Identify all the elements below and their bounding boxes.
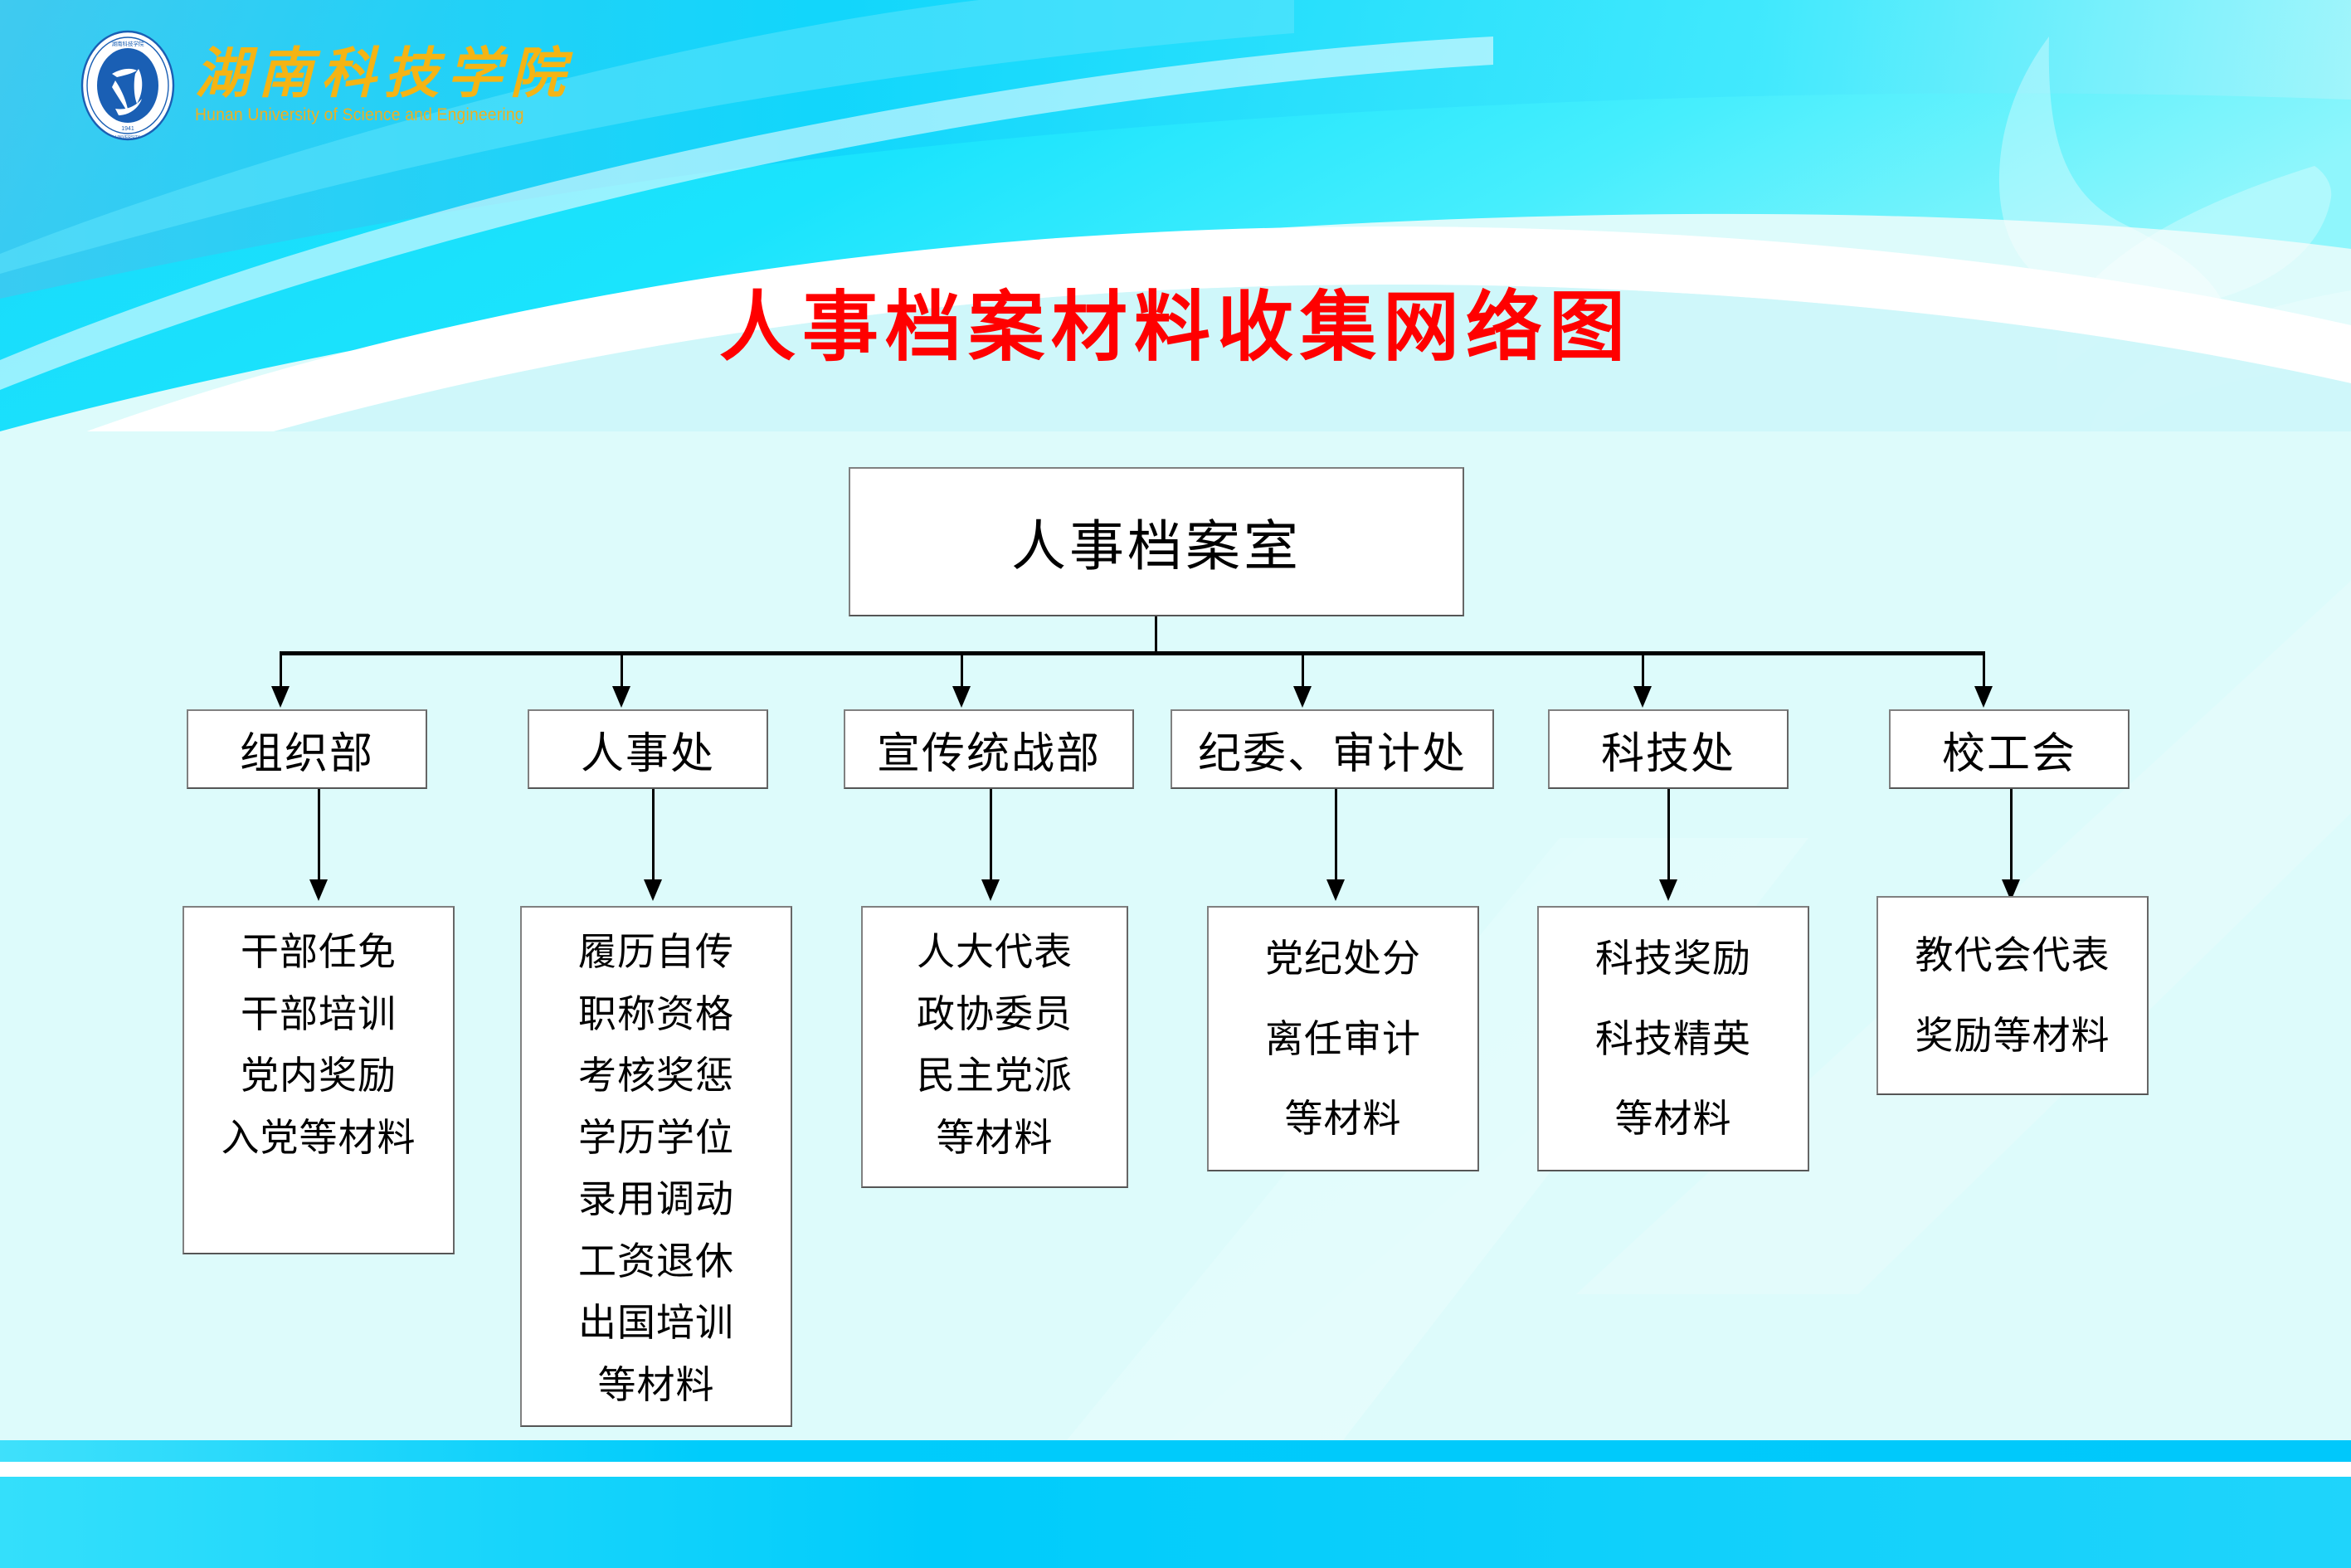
arrowhead-bus-to-dept-2 (612, 686, 630, 708)
node-department-6: 校工会 (1889, 709, 2130, 789)
svg-text:UNIVERSITY: UNIVERSITY (115, 135, 141, 140)
connector-root-trunk (1155, 616, 1157, 653)
connector-horizontal-bus (280, 651, 1985, 655)
material-item: 职称资格 (578, 983, 734, 1045)
arrowhead-bus-to-dept-6 (1974, 686, 1993, 708)
node-department-5: 科技处 (1548, 709, 1789, 789)
arrowhead-bus-to-dept-3 (952, 686, 971, 708)
university-logo: 1941 湖南科技学院 UNIVERSITY 湖南科技学院 Hunan Univ… (79, 32, 573, 139)
arrowhead-bus-to-dept-1 (271, 686, 290, 708)
material-item: 出国培训 (578, 1292, 734, 1354)
material-item: 等材料 (598, 1354, 715, 1416)
node-department-5-label: 科技处 (1601, 718, 1735, 781)
connector-bus-to-dept-6 (1983, 655, 1985, 687)
university-name-cn: 湖南科技学院 (195, 46, 573, 100)
node-department-1-label: 组织部 (240, 718, 374, 781)
node-materials-1: 干部任免 干部培训 党内奖励 入党等材料 (183, 906, 455, 1254)
node-materials-6: 教代会代表 奖励等材料 (1876, 896, 2149, 1095)
arrowhead-bus-to-dept-5 (1633, 686, 1652, 708)
material-item: 人大代表 (917, 921, 1073, 983)
node-root-label: 人事档案室 (1011, 502, 1302, 582)
node-department-6-label: 校工会 (1942, 718, 2076, 781)
material-item: 政协委员 (917, 983, 1073, 1045)
material-item: 录用调动 (578, 1168, 734, 1230)
material-item: 干部培训 (241, 983, 397, 1045)
connector-dept-3-to-materials (990, 789, 992, 880)
material-item: 考核奖惩 (578, 1045, 734, 1107)
page-title: 人事档案材料收集网络图 (0, 265, 2351, 376)
material-item: 学历学位 (578, 1107, 734, 1169)
material-item: 工资退休 (578, 1230, 734, 1293)
node-department-4: 纪委、审计处 (1171, 709, 1494, 789)
material-item: 党内奖励 (241, 1045, 397, 1107)
connector-bus-to-dept-5 (1642, 655, 1644, 687)
node-department-4-label: 纪委、审计处 (1198, 718, 1467, 781)
material-item: 干部任免 (241, 921, 397, 983)
connector-dept-1-to-materials (318, 789, 320, 880)
connector-dept-6-to-materials (2010, 789, 2013, 880)
arrowhead-dept-1-to-materials (309, 879, 328, 901)
material-item: 等材料 (937, 1107, 1054, 1169)
connector-bus-to-dept-3 (961, 655, 963, 687)
university-wordmark: 湖南科技学院 Hunan University of Science and E… (195, 46, 573, 125)
material-item: 等材料 (1615, 1079, 1732, 1159)
material-item: 教代会代表 (1915, 915, 2110, 996)
material-item: 履历自传 (578, 921, 734, 983)
node-department-2-label: 人事处 (581, 718, 715, 781)
university-seal-icon: 1941 湖南科技学院 UNIVERSITY (79, 29, 177, 142)
material-item: 科技精英 (1595, 999, 1751, 1079)
arrowhead-dept-5-to-materials (1659, 879, 1677, 901)
material-item: 入党等材料 (221, 1107, 416, 1169)
arrowhead-bus-to-dept-4 (1293, 686, 1312, 708)
connector-bus-to-dept-1 (280, 655, 282, 687)
node-materials-2: 履历自传 职称资格 考核奖惩 学历学位 录用调动 工资退休 出国培训 等材料 (520, 906, 792, 1427)
connector-dept-5-to-materials (1667, 789, 1670, 880)
material-item: 离任审计 (1265, 999, 1421, 1079)
node-department-2: 人事处 (528, 709, 768, 789)
node-department-3: 宣传统战部 (844, 709, 1134, 789)
svg-text:湖南科技学院: 湖南科技学院 (112, 40, 145, 47)
svg-text:1941: 1941 (121, 126, 134, 132)
connector-bus-to-dept-4 (1302, 655, 1304, 687)
node-department-1: 组织部 (187, 709, 427, 789)
arrowhead-dept-3-to-materials (981, 879, 1000, 901)
connector-dept-4-to-materials (1335, 789, 1337, 880)
material-item: 奖励等材料 (1915, 996, 2110, 1076)
slide-canvas: 1941 湖南科技学院 UNIVERSITY 湖南科技学院 Hunan Univ… (0, 0, 2351, 1568)
material-item: 等材料 (1285, 1079, 1402, 1159)
material-item: 科技奖励 (1595, 918, 1751, 999)
node-materials-4: 党纪处分 离任审计 等材料 (1207, 906, 1479, 1171)
node-materials-5: 科技奖励 科技精英 等材料 (1537, 906, 1809, 1171)
connector-dept-2-to-materials (652, 789, 655, 880)
arrowhead-dept-4-to-materials (1326, 879, 1345, 901)
university-name-en: Hunan University of Science and Engineer… (195, 105, 543, 125)
arrowhead-dept-2-to-materials (644, 879, 662, 901)
material-item: 民主党派 (917, 1045, 1073, 1107)
node-materials-3: 人大代表 政协委员 民主党派 等材料 (861, 906, 1128, 1188)
material-item: 党纪处分 (1265, 918, 1421, 999)
connector-bus-to-dept-2 (621, 655, 623, 687)
node-department-3-label: 宣传统战部 (877, 718, 1101, 781)
node-root: 人事档案室 (849, 467, 1464, 616)
